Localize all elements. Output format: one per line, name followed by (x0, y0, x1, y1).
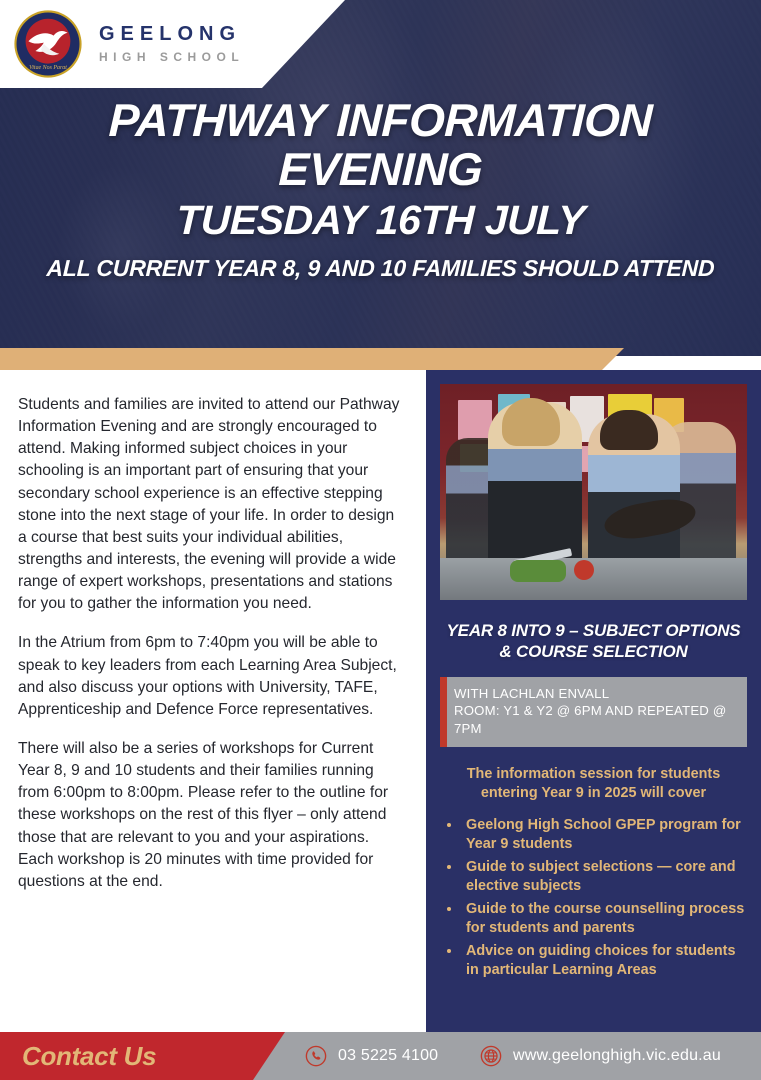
students-cooking-class-photo (440, 384, 747, 600)
phone-icon (305, 1045, 327, 1067)
session-presenter: WITH LACHLAN ENVALL (454, 685, 737, 703)
session-bullet-list: Geelong High School GPEP program for Yea… (462, 816, 747, 980)
svg-text:Vitae Nos Parat: Vitae Nos Parat (29, 65, 67, 71)
footer-phone-number: 03 5225 4100 (338, 1047, 438, 1065)
session-room: ROOM: Y1 & Y2 @ 6PM AND REPEATED @ 7PM (454, 702, 737, 738)
hero-subtitle: ALL CURRENT YEAR 8, 9 AND 10 FAMILIES SH… (0, 255, 761, 282)
list-item: Guide to subject selections — core and e… (462, 858, 747, 896)
hero-title-line1: PATHWAY INFORMATION (0, 96, 761, 145)
footer-website-url: www.geelonghigh.vic.edu.au (513, 1047, 721, 1065)
wordmark-sub: HIGH SCHOOL (99, 50, 244, 64)
hero-heading-group: PATHWAY INFORMATION EVENING TUESDAY 16TH… (0, 96, 761, 282)
session-details-box: WITH LACHLAN ENVALL ROOM: Y1 & Y2 @ 6PM … (440, 677, 747, 747)
school-wordmark: GEELONG HIGH SCHOOL (99, 24, 244, 64)
contact-us-tab: Contact Us (0, 1032, 285, 1080)
contact-us-label: Contact Us (22, 1041, 156, 1072)
body-section: Students and families are invited to att… (0, 370, 761, 1032)
hero-title-line2: EVENING (0, 145, 761, 194)
intro-text-column: Students and families are invited to att… (0, 370, 426, 1032)
footer-phone[interactable]: 03 5225 4100 (305, 1032, 438, 1080)
session-panel: YEAR 8 INTO 9 – SUBJECT OPTIONS & COURSE… (426, 370, 761, 1032)
footer-website[interactable]: www.geelonghigh.vic.edu.au (480, 1032, 721, 1080)
intro-paragraph-3: There will also be a series of workshops… (18, 738, 406, 893)
contact-footer: Contact Us 03 5225 4100 www.geelonghigh.… (0, 1032, 761, 1080)
session-title: YEAR 8 INTO 9 – SUBJECT OPTIONS & COURSE… (440, 620, 747, 663)
session-cover-heading: The information session for students ent… (440, 765, 747, 802)
hero-banner: Vitae Nos Parat GEELONG HIGH SCHOOL PATH… (0, 0, 761, 356)
geelong-high-school-crest-icon: Vitae Nos Parat (13, 9, 83, 79)
list-item: Guide to the course counselling process … (462, 900, 747, 938)
list-item: Geelong High School GPEP program for Yea… (462, 816, 747, 854)
gold-divider-band (0, 348, 624, 370)
globe-icon (480, 1045, 502, 1067)
intro-paragraph-2: In the Atrium from 6pm to 7:40pm you wil… (18, 632, 406, 721)
hero-title-line3: TUESDAY 16TH JULY (0, 196, 761, 245)
wordmark-main: GEELONG (99, 24, 244, 45)
intro-paragraph-1: Students and families are invited to att… (18, 394, 406, 615)
list-item: Advice on guiding choices for students i… (462, 942, 747, 980)
